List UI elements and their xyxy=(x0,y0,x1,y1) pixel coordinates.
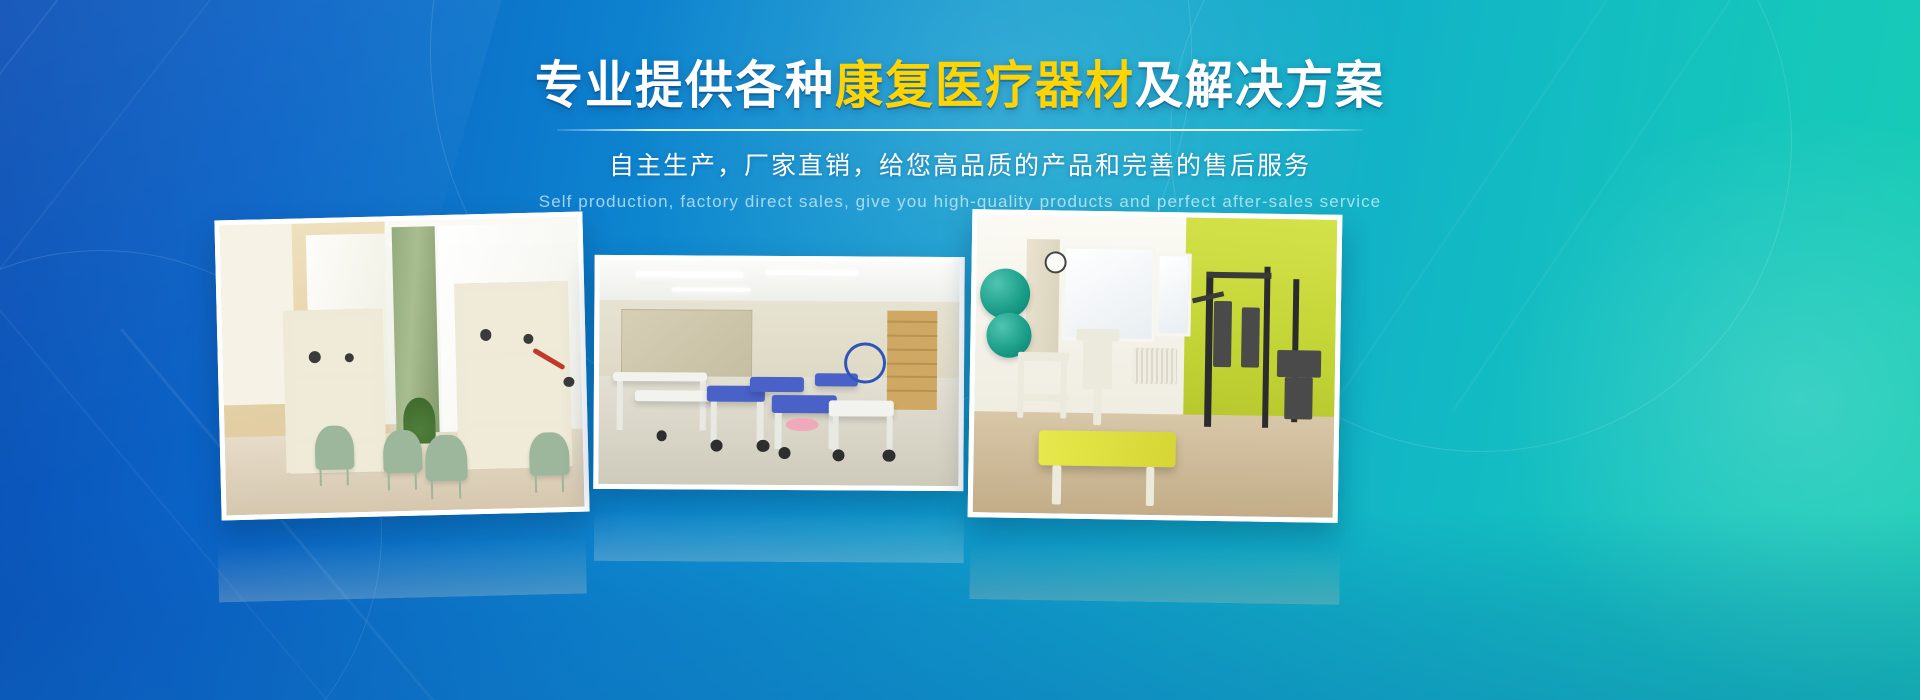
promotional-banner: 专业提供各种康复医疗器材及解决方案 自主生产，厂家直销，给您高品质的产品和完善的… xyxy=(0,0,1920,700)
banner-copy: 专业提供各种康复医疗器材及解决方案 自主生产，厂家直销，给您高品质的产品和完善的… xyxy=(0,62,1920,212)
headline-part-2-highlight: 康复医疗器材 xyxy=(835,56,1135,115)
headline-divider xyxy=(557,129,1363,131)
photo-therapy-equipment-hall[interactable] xyxy=(593,255,964,491)
photo-rehab-training-room[interactable] xyxy=(214,212,589,521)
subtitle-chinese: 自主生产，厂家直销，给您高品质的产品和完善的售后服务 xyxy=(0,146,1920,182)
photo-fitness-therapy-room-image xyxy=(973,214,1338,518)
headline-part-3: 及解决方案 xyxy=(1135,56,1385,115)
photo-fitness-therapy-room-reflection xyxy=(969,519,1340,605)
photo-therapy-equipment-hall-reflection xyxy=(594,491,964,563)
photo-rehab-training-room-image xyxy=(220,217,585,516)
photo-therapy-equipment-hall-image xyxy=(598,260,959,486)
headline: 专业提供各种康复医疗器材及解决方案 xyxy=(0,61,1920,112)
photo-rehab-training-room-reflection xyxy=(217,514,587,603)
subtitle-english: Self production, factory direct sales, g… xyxy=(0,192,1920,212)
headline-part-1: 专业提供各种 xyxy=(535,56,835,115)
photo-fitness-therapy-room[interactable] xyxy=(968,209,1343,523)
